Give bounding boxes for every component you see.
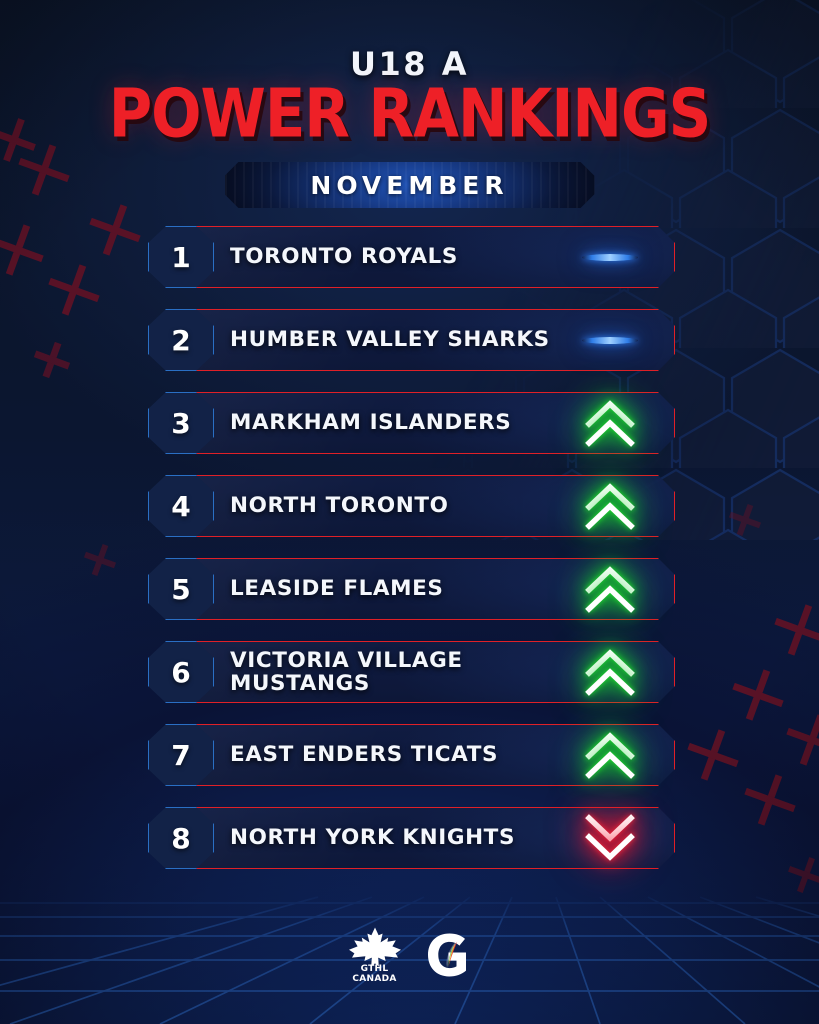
- trend-indicator-same: [579, 229, 641, 285]
- month-banner: NOVEMBER: [225, 162, 595, 208]
- ranking-row[interactable]: 1TORONTO ROYALS: [148, 226, 675, 288]
- rank-number: 7: [171, 739, 190, 772]
- team-name: TORONTO ROYALS: [230, 245, 560, 268]
- ranking-row[interactable]: 8NORTH YORK KNIGHTS: [148, 807, 675, 869]
- page-title: POWER RANKINGS: [0, 81, 819, 148]
- ranking-row[interactable]: 4NORTH TORONTO: [148, 475, 675, 537]
- team-name: NORTH TORONTO: [230, 494, 560, 517]
- rankings-list: 1TORONTO ROYALS2HUMBER VALLEY SHARKS3MAR…: [148, 226, 675, 890]
- double-chevron-up-icon: [584, 482, 636, 530]
- ranking-row[interactable]: 5LEASIDE FLAMES: [148, 558, 675, 620]
- rank-number: 3: [171, 407, 190, 440]
- rank-badge: 5: [148, 558, 214, 620]
- rank-badge: 1: [148, 226, 214, 288]
- rank-badge: 3: [148, 392, 214, 454]
- gthl-logo-line2: CANADA: [352, 974, 396, 984]
- team-name: HUMBER VALLEY SHARKS: [230, 328, 560, 351]
- rank-number: 1: [171, 241, 190, 274]
- rank-number: 4: [171, 490, 190, 523]
- trend-indicator-same: [579, 312, 641, 368]
- team-name: LEASIDE FLAMES: [230, 577, 560, 600]
- rank-number: 5: [171, 573, 190, 606]
- double-chevron-up-icon: [584, 648, 636, 696]
- dash-icon: [582, 254, 638, 261]
- ranking-row[interactable]: 3MARKHAM ISLANDERS: [148, 392, 675, 454]
- power-rankings-graphic: U18 A POWER RANKINGS NOVEMBER 1TORONTO R…: [0, 0, 819, 1024]
- ranking-row[interactable]: 2HUMBER VALLEY SHARKS: [148, 309, 675, 371]
- gatorade-logo: [423, 930, 473, 980]
- trend-indicator-down: [579, 810, 641, 866]
- team-name: EAST ENDERS TICATS: [230, 743, 560, 766]
- double-chevron-up-icon: [584, 399, 636, 447]
- month-label: NOVEMBER: [310, 171, 508, 200]
- maple-leaf-icon: [347, 925, 403, 969]
- gthl-canada-logo-text: GTHL CANADA: [352, 965, 396, 984]
- trend-indicator-up: [579, 727, 641, 783]
- dash-icon: [582, 337, 638, 344]
- ranking-row[interactable]: 6VICTORIA VILLAGE MUSTANGS: [148, 641, 675, 703]
- gthl-logo-line1: GTHL: [361, 964, 389, 974]
- footer-logos: GTHL CANADA: [0, 925, 819, 984]
- gthl-canada-logo: GTHL CANADA: [347, 925, 403, 984]
- rank-number: 8: [171, 822, 190, 855]
- trend-indicator-up: [579, 561, 641, 617]
- rank-number: 2: [171, 324, 190, 357]
- rank-number: 6: [171, 656, 190, 689]
- rank-badge: 2: [148, 309, 214, 371]
- trend-indicator-up: [579, 395, 641, 451]
- trend-indicator-up: [579, 644, 641, 700]
- team-name: NORTH YORK KNIGHTS: [230, 826, 560, 849]
- rank-badge: 6: [148, 641, 214, 703]
- double-chevron-up-icon: [584, 565, 636, 613]
- double-chevron-down-icon: [584, 814, 636, 862]
- header: U18 A POWER RANKINGS NOVEMBER: [0, 48, 819, 208]
- trend-indicator-up: [579, 478, 641, 534]
- rank-badge: 7: [148, 724, 214, 786]
- ranking-row[interactable]: 7EAST ENDERS TICATS: [148, 724, 675, 786]
- rank-badge: 8: [148, 807, 214, 869]
- team-name: VICTORIA VILLAGE MUSTANGS: [230, 649, 560, 695]
- rank-badge: 4: [148, 475, 214, 537]
- team-name: MARKHAM ISLANDERS: [230, 411, 560, 434]
- double-chevron-up-icon: [584, 731, 636, 779]
